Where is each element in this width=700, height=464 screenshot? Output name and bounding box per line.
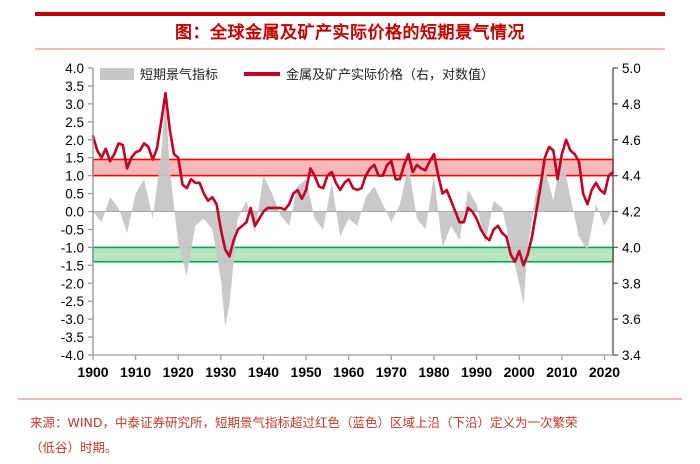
left-axis-tick-label: -1.0 [61, 240, 84, 255]
legend-item-line: 金属及矿产实际价格（右，对数值） [244, 64, 494, 83]
x-axis-tick-label: 2010 [546, 364, 577, 380]
left-axis-tick-label: 3.0 [65, 97, 84, 112]
right-axis-tick-label: 4.0 [622, 240, 641, 255]
x-axis-tick-label: 1940 [248, 364, 279, 380]
legend-item-area: 短期景气指标 [100, 64, 218, 83]
x-axis-tick-label: 1950 [291, 364, 322, 380]
left-axis-tick-label: 1.0 [65, 169, 84, 184]
chart-svg: -4.0-3.5-3.0-2.5-2.0-1.5-1.0-0.50.00.51.… [0, 58, 700, 398]
left-axis-tick-label: -1.5 [61, 258, 84, 273]
left-axis-tick-label: 3.5 [65, 79, 84, 94]
footnote-line-2: （低谷）时期。 [30, 435, 680, 460]
right-axis-tick-label: 5.0 [622, 61, 641, 76]
left-axis-tick-label: 2.5 [65, 115, 84, 130]
footnote-line-1: 来源：WIND，中泰证券研究所，短期景气指标超过红色（蓝色）区域上沿（下沿）定义… [30, 410, 680, 435]
x-axis-tick-label: 1910 [120, 364, 151, 380]
x-axis-tick-label: 1980 [418, 364, 449, 380]
x-axis-tick-label: 2020 [589, 364, 620, 380]
legend-label-line: 金属及矿产实际价格（右，对数值） [286, 64, 494, 83]
left-axis-tick-label: -2.0 [61, 276, 84, 291]
x-axis-tick-label: 1970 [376, 364, 407, 380]
chart-page: 图：全球金属及矿产实际价格的短期景气情况 -4.0-3.5-3.0-2.5-2.… [0, 0, 700, 464]
title-bottom-rule [35, 48, 665, 50]
x-axis-tick-label: 2000 [504, 364, 535, 380]
footnote-text: 来源：WIND，中泰证券研究所，短期景气指标超过红色（蓝色）区域上沿（下沿）定义… [30, 410, 680, 460]
band-trough-band [93, 247, 613, 261]
right-axis-tick-label: 3.4 [622, 348, 641, 363]
right-axis-tick-label: 4.4 [622, 169, 641, 184]
band-boom-band [93, 159, 613, 175]
footnote-rule [18, 398, 682, 400]
x-axis-tick-label: 1930 [205, 364, 236, 380]
left-axis-tick-label: -0.5 [61, 222, 84, 237]
title-top-rule [35, 12, 665, 16]
left-axis-tick-label: 2.0 [65, 133, 84, 148]
left-axis-tick-label: 0.0 [65, 205, 84, 220]
right-axis-tick-label: 3.6 [622, 312, 641, 327]
left-axis-tick-label: -3.0 [61, 312, 84, 327]
x-axis-tick-label: 1900 [77, 364, 108, 380]
x-axis-tick-label: 1920 [163, 364, 194, 380]
series-area-boom-index [93, 93, 613, 326]
left-axis-tick-label: -3.5 [61, 330, 84, 345]
series-line-metal-price [93, 93, 613, 265]
right-axis-tick-label: 4.2 [622, 205, 641, 220]
left-axis-tick-label: 0.5 [65, 187, 84, 202]
left-axis-tick-label: 4.0 [65, 61, 84, 76]
chart-legend: 短期景气指标 金属及矿产实际价格（右，对数值） [100, 64, 494, 83]
page-title: 图：全球金属及矿产实际价格的短期景气情况 [35, 18, 665, 43]
x-axis-tick-label: 1990 [461, 364, 492, 380]
right-axis-tick-label: 4.6 [622, 133, 641, 148]
left-axis-tick-label: -2.5 [61, 294, 84, 309]
line-swatch-icon [244, 72, 280, 76]
left-axis-tick-label: 1.5 [65, 151, 84, 166]
right-axis-tick-label: 3.8 [622, 276, 641, 291]
area-swatch-icon [100, 68, 134, 80]
left-axis-tick-label: -4.0 [61, 348, 84, 363]
right-axis-tick-label: 4.8 [622, 97, 641, 112]
legend-label-area: 短期景气指标 [140, 64, 218, 83]
title-block: 图：全球金属及矿产实际价格的短期景气情况 [35, 12, 665, 50]
x-axis-tick-label: 1960 [333, 364, 364, 380]
chart-canvas: -4.0-3.5-3.0-2.5-2.0-1.5-1.0-0.50.00.51.… [0, 58, 700, 398]
